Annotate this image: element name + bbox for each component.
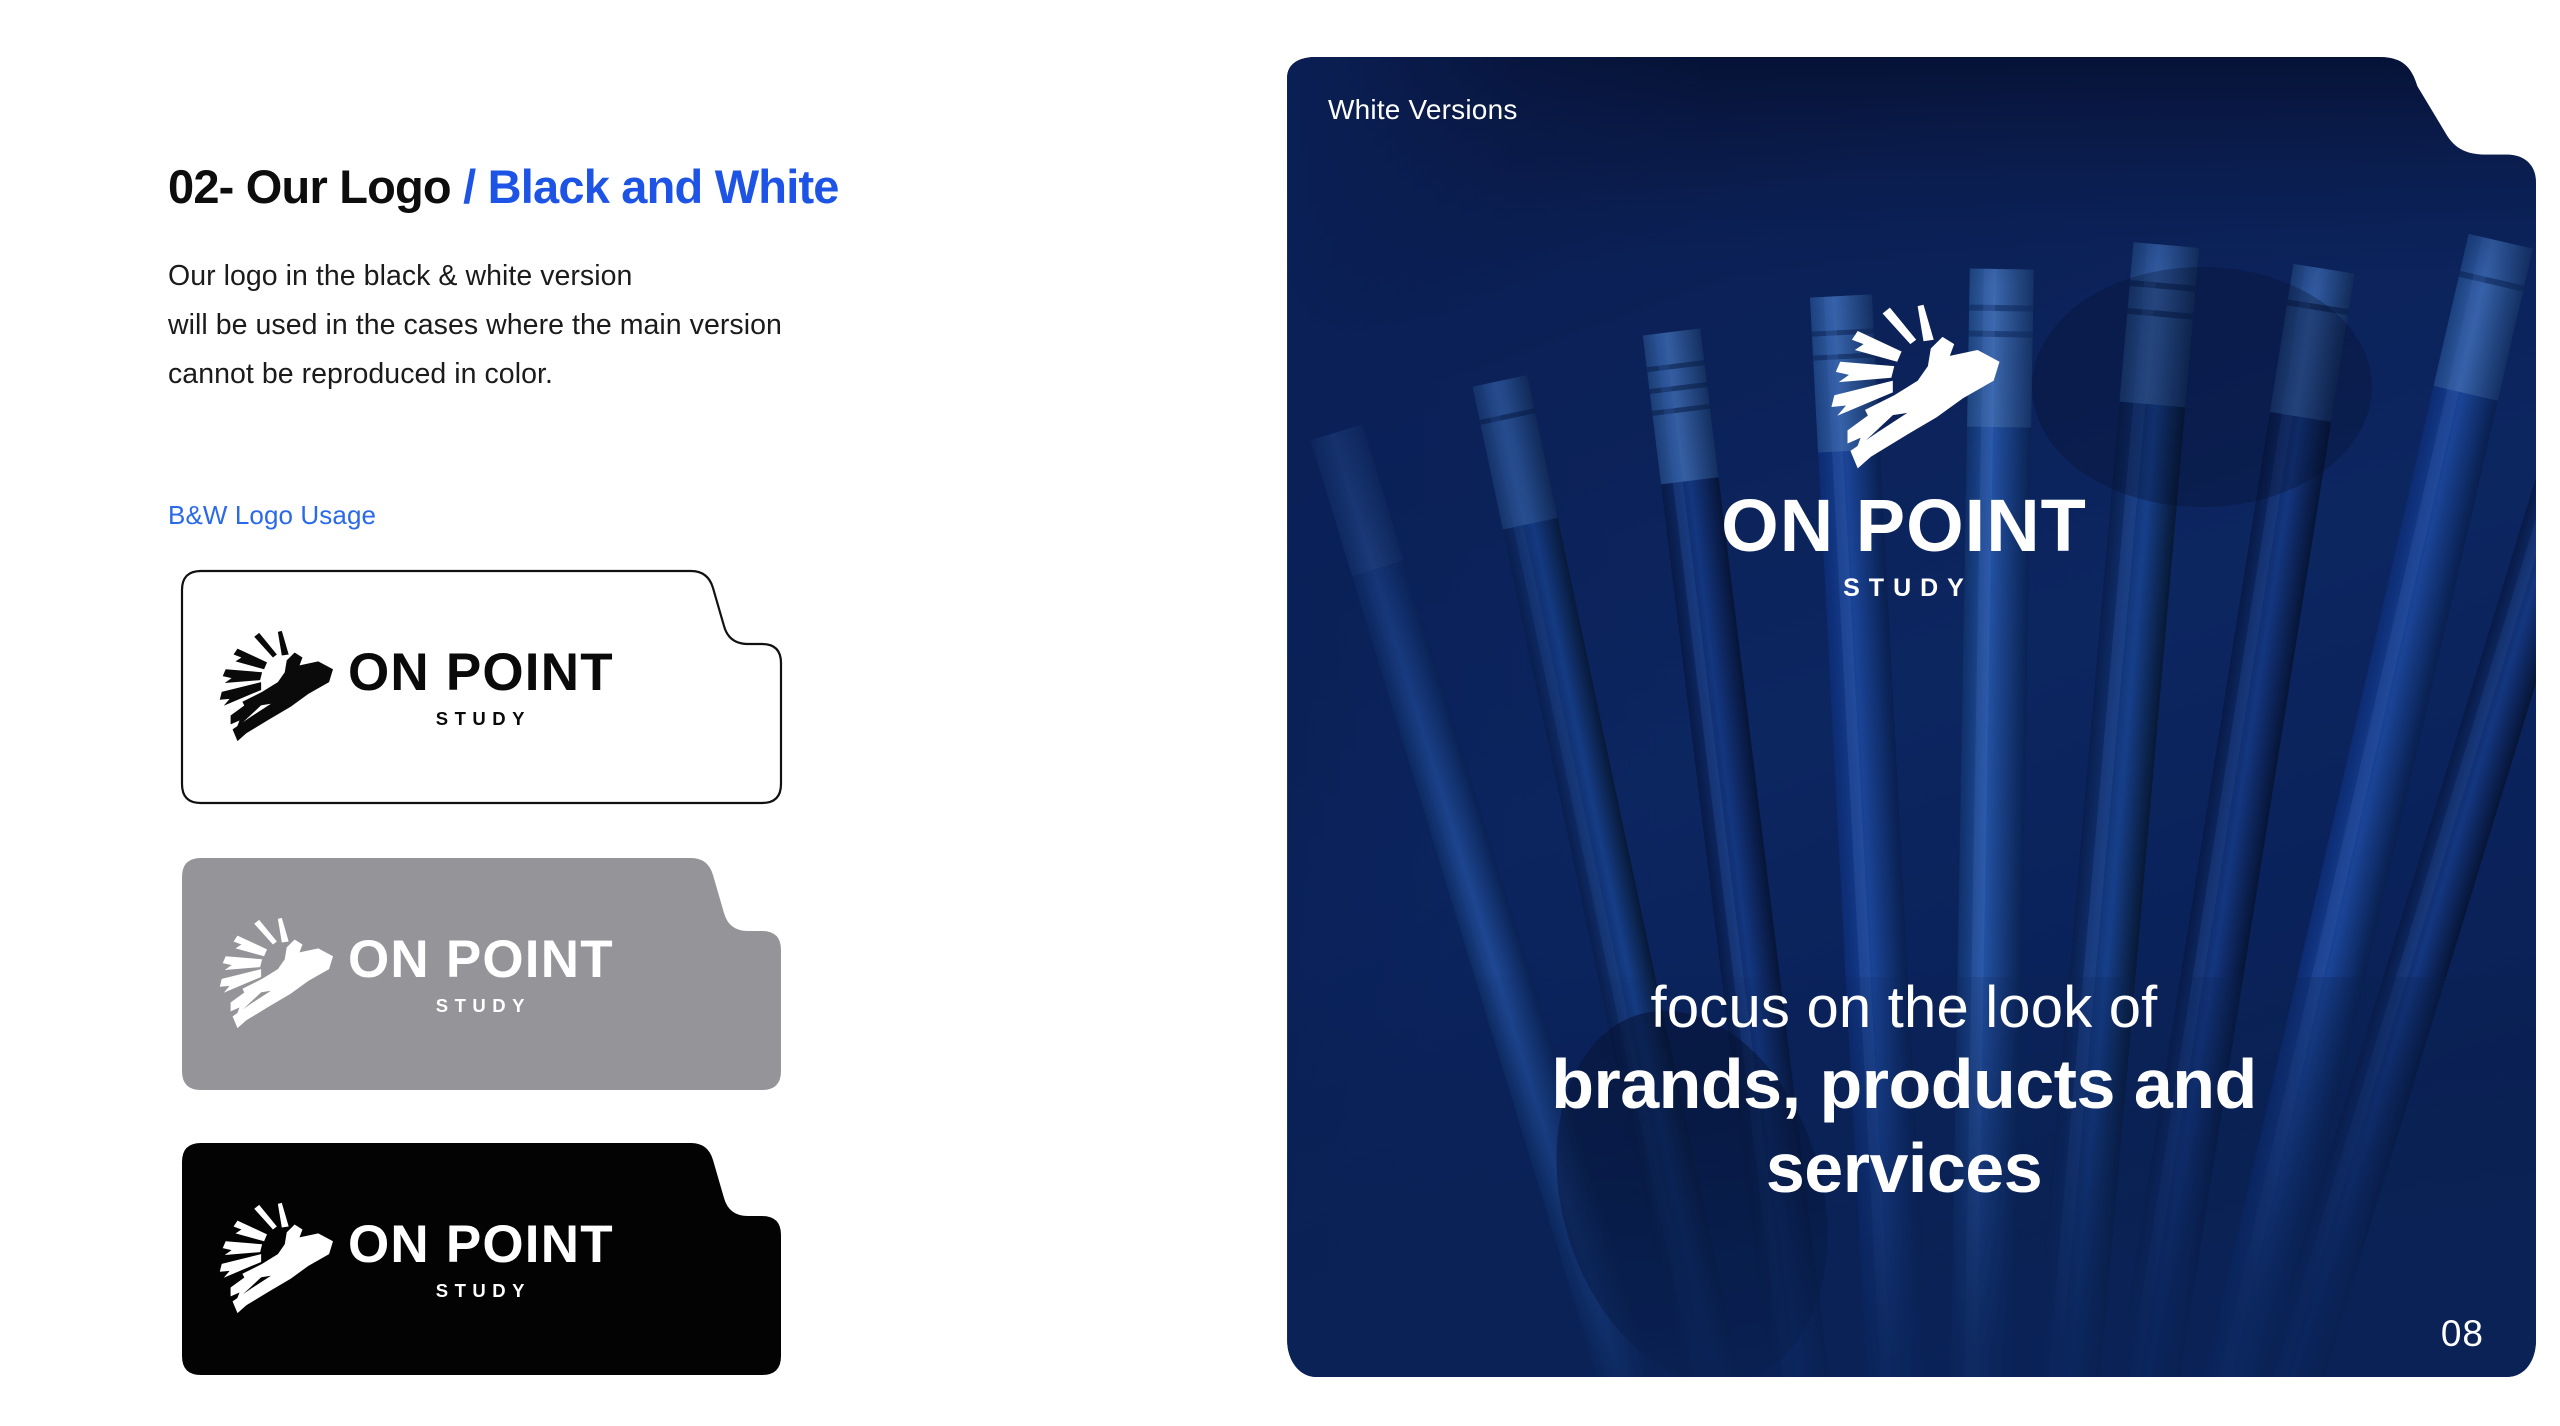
intro-paragraph: Our logo in the black & white version wi… (168, 252, 782, 399)
logo-card-gray: ON POINT STUDY (168, 855, 785, 1093)
page-title-prefix: 02- Our Logo (168, 160, 463, 213)
logo-lockup-white-version: ON POINT STUDY (1272, 293, 2536, 601)
wordmark-white: ON POINT STUDY (348, 646, 614, 729)
wordmark-secondary: STUDY (431, 710, 531, 729)
page-title: 02- Our Logo / Black and White (168, 159, 839, 214)
wordmark-primary: ON POINT (348, 1218, 614, 1271)
wordmark-primary: ON POINT (348, 933, 614, 986)
intro-line-3: cannot be reproduced in color. (168, 350, 782, 399)
wordmark-secondary: STUDY (431, 997, 531, 1016)
logo-card-white: ON POINT STUDY (168, 568, 785, 806)
intro-line-2: will be used in the cases where the main… (168, 301, 782, 350)
tagline-line-bold-1: brands, products and (1322, 1045, 2486, 1123)
wordmark-secondary: STUDY (431, 1282, 531, 1301)
wordmark-secondary: STUDY (1835, 576, 1973, 601)
wordmark-primary: ON POINT (348, 646, 614, 699)
wordmark-gray: ON POINT STUDY (348, 933, 614, 1016)
left-content-column: 02- Our Logo / Black and White Our logo … (168, 0, 1068, 1426)
logo-lockup-white: ON POINT STUDY (168, 568, 785, 806)
white-versions-panel: White Versions ON POINT STUDY (1272, 57, 2536, 1377)
tagline-line-bold-2: services (1322, 1129, 2486, 1207)
panel-tagline: focus on the look of brands, products an… (1322, 977, 2486, 1208)
panel-section-label: White Versions (1328, 94, 1518, 126)
logo-card-black: ON POINT STUDY (168, 1140, 785, 1378)
logo-lockup-black: ON POINT STUDY (168, 1140, 785, 1378)
wordmark-black: ON POINT STUDY (348, 1218, 614, 1301)
wordmark-primary: ON POINT (1721, 489, 2087, 563)
panel-clip-region: White Versions ON POINT STUDY (1272, 57, 2536, 1377)
panel-foreground: White Versions ON POINT STUDY (1272, 57, 2536, 1377)
bird-logo-icon (1802, 293, 2007, 483)
bw-logo-usage-label: B&W Logo Usage (168, 500, 376, 531)
bird-logo-icon (200, 1195, 338, 1323)
tagline-line-thin: focus on the look of (1322, 977, 2486, 1039)
page-number: 08 (2441, 1313, 2484, 1355)
page-title-accent: / Black and White (463, 160, 839, 213)
intro-line-1: Our logo in the black & white version (168, 252, 782, 301)
logo-lockup-gray: ON POINT STUDY (168, 855, 785, 1093)
bird-logo-icon (200, 910, 338, 1038)
bird-logo-icon (200, 623, 338, 751)
